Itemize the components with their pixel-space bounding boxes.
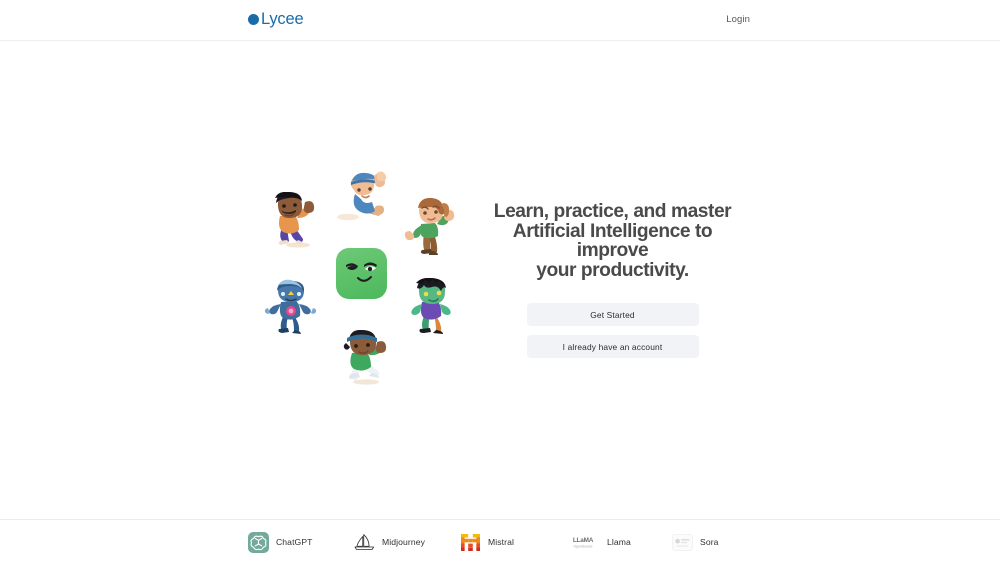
mistral-logo-icon (460, 532, 481, 553)
midjourney-logo-icon (354, 532, 375, 553)
hero-section: Learn, practice, and master Artificial I… (0, 41, 1000, 519)
brand-logo[interactable]: Lycee (248, 11, 303, 28)
already-have-account-button[interactable]: I already have an account (527, 335, 699, 358)
header-inner: Lycee Login (0, 0, 1000, 40)
logo-item-chatgpt[interactable]: ChatGPT (248, 532, 354, 553)
logo-item-mistral[interactable]: Mistral (460, 532, 566, 553)
logo-label-mistral: Mistral (488, 537, 514, 547)
svg-text:OpenSource: OpenSource (573, 544, 592, 548)
character-green-shirt-boy (402, 198, 462, 258)
headline-line-3: your productivity. (490, 261, 736, 281)
character-green-monster (406, 278, 462, 336)
site-footer: ChatGPT Midjourney (0, 519, 1000, 563)
site-header: Lycee Login (0, 0, 1000, 41)
sora-logo-icon (672, 532, 693, 553)
llama-logo-icon: LLaMA OpenSource (566, 532, 600, 553)
logo-label-chatgpt: ChatGPT (276, 537, 313, 547)
svg-text:LLaMA: LLaMA (573, 537, 594, 544)
logo-item-sora[interactable]: Sora (672, 532, 719, 553)
logo-item-llama[interactable]: LLaMA OpenSource Llama (566, 532, 672, 553)
landing-page: Lycee Login (0, 0, 1000, 563)
brand-name: Lycee (261, 11, 303, 28)
character-blue-cap-kid (334, 168, 392, 226)
get-started-button[interactable]: Get Started (527, 303, 699, 326)
character-blue-robot (264, 278, 322, 336)
main-content: Learn, practice, and master Artificial I… (0, 41, 1000, 519)
circle-dot-icon (248, 14, 259, 25)
character-headband-girl (336, 330, 394, 388)
logo-label-llama: Llama (607, 537, 631, 547)
character-illustration-cluster (248, 160, 478, 400)
green-square-face-avatar (336, 248, 387, 299)
headline-line-2: Artificial Intelligence to improve (490, 222, 736, 261)
chatgpt-logo-icon (248, 532, 269, 553)
hero-copy: Learn, practice, and master Artificial I… (478, 202, 736, 358)
logo-label-sora: Sora (700, 537, 719, 547)
partner-logo-list: ChatGPT Midjourney (248, 520, 752, 563)
page-title: Learn, practice, and master Artificial I… (490, 202, 736, 280)
hero-row: Learn, practice, and master Artificial I… (248, 160, 753, 400)
headline-line-1: Learn, practice, and master (490, 202, 736, 222)
logo-item-midjourney[interactable]: Midjourney (354, 532, 460, 553)
character-dark-hair-man (266, 192, 324, 250)
login-link[interactable]: Login (726, 14, 750, 25)
logo-label-midjourney: Midjourney (382, 537, 425, 547)
